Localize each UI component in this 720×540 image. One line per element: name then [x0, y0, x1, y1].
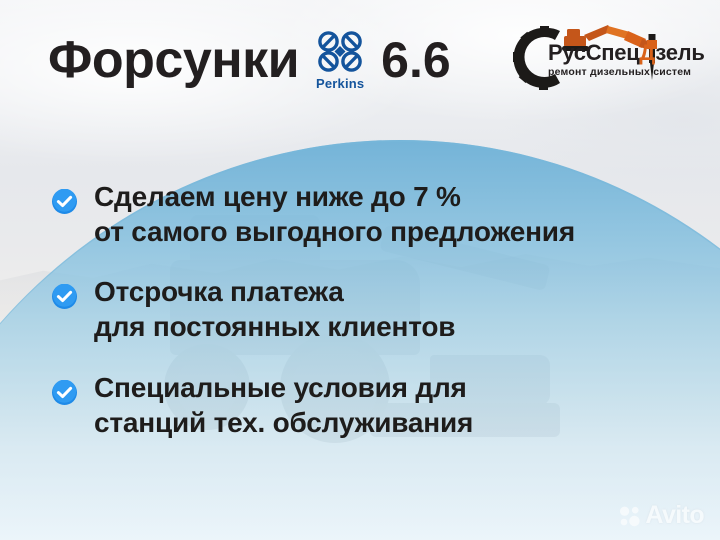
page-title: Форсунки — [48, 34, 299, 86]
check-circle-icon — [52, 380, 77, 405]
list-item: Специальные условия для станций тех. обс… — [52, 371, 652, 440]
check-circle-icon — [52, 189, 77, 214]
benefit-text: Специальные условия для станций тех. обс… — [94, 371, 473, 440]
list-item: Отсрочка платежа для постоянных клиентов — [52, 275, 652, 344]
company-wordmark: РусСпецДзель — [548, 40, 705, 66]
perkins-logo: Perkins — [315, 30, 365, 91]
benefits-list: Сделаем цену ниже до 7 % от самого выгод… — [52, 180, 652, 466]
title-block: Форсунки Perkins — [48, 28, 451, 91]
benefit-line-1: Специальные условия для — [94, 372, 467, 403]
perkins-clover-icon — [315, 30, 365, 74]
benefit-text: Отсрочка платежа для постоянных клиентов — [94, 275, 455, 344]
engine-displacement: 6.6 — [381, 35, 451, 85]
company-wordmark-part1: РусСпец — [548, 40, 639, 65]
benefit-line-2: для постоянных клиентов — [94, 310, 455, 345]
list-item: Сделаем цену ниже до 7 % от самого выгод… — [52, 180, 652, 249]
company-wordmark-part3: зель — [655, 40, 704, 65]
benefit-line-1: Отсрочка платежа — [94, 276, 344, 307]
company-tagline: ремонт дизельных систем — [548, 66, 691, 78]
check-circle-icon — [52, 284, 77, 309]
perkins-wordmark: Perkins — [316, 76, 364, 91]
benefit-line-2: от самого выгодного предложения — [94, 215, 575, 250]
header: Форсунки Perkins — [0, 0, 720, 120]
company-wordmark-part2: Д — [639, 40, 655, 65]
poster-canvas: Форсунки Perkins — [0, 0, 720, 540]
avito-dots-icon — [619, 505, 641, 527]
benefit-line-2: станций тех. обслуживания — [94, 406, 473, 441]
avito-wordmark: Avito — [645, 501, 704, 530]
company-logo: РусСпецДзель ремонт дизельных систем — [510, 20, 706, 98]
benefit-line-1: Сделаем цену ниже до 7 % — [94, 181, 461, 212]
avito-watermark: Avito — [619, 501, 704, 530]
benefit-text: Сделаем цену ниже до 7 % от самого выгод… — [94, 180, 575, 249]
